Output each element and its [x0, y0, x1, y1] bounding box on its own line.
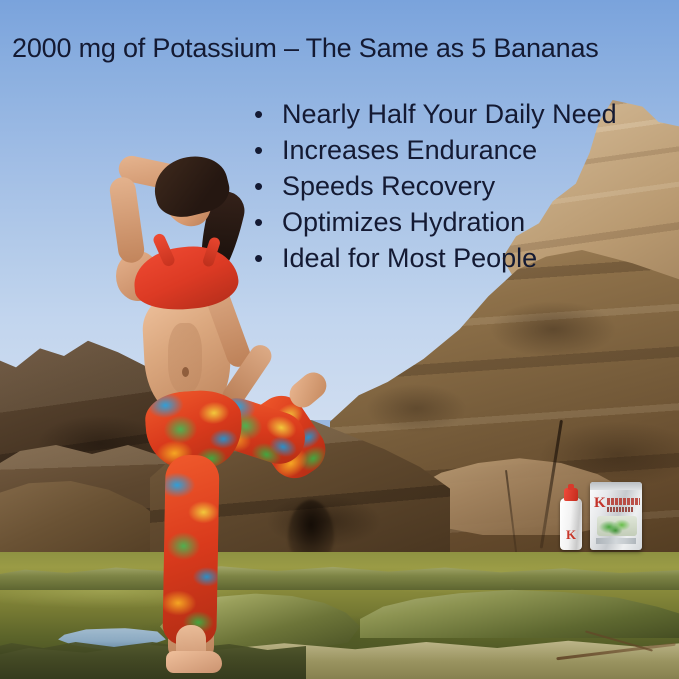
- bottle-logo-letter: K: [566, 528, 578, 544]
- abdomen-shading: [168, 323, 202, 393]
- navel: [182, 367, 189, 377]
- list-item: Speeds Recovery: [252, 168, 617, 204]
- infographic-canvas: K K 2000 mg of Potassium – The Same as 5…: [0, 0, 679, 679]
- list-item: Optimizes Hydration: [252, 204, 617, 240]
- pouch-produce-image: [597, 516, 637, 536]
- pouch-subtitle-text: [607, 507, 633, 512]
- water-bottle: K: [560, 498, 582, 550]
- headline: 2000 mg of Potassium – The Same as 5 Ban…: [12, 32, 599, 64]
- pouch-top-seal: [590, 482, 642, 490]
- product-group: K K: [560, 482, 650, 554]
- list-item: Nearly Half Your Daily Need: [252, 96, 617, 132]
- list-item: Ideal for Most People: [252, 240, 617, 276]
- supplement-pouch: K: [590, 482, 642, 550]
- pouch-brand-text: [607, 498, 640, 505]
- arm-raised-forearm: [108, 176, 146, 265]
- bottle-nozzle: [568, 484, 574, 490]
- list-item: Increases Endurance: [252, 132, 617, 168]
- foot-standing: [166, 651, 222, 673]
- leg-standing-upper: [162, 455, 219, 646]
- pouch-info-strip: [596, 538, 636, 544]
- benefit-list: Nearly Half Your Daily Need Increases En…: [252, 96, 617, 276]
- pouch-logo-letter: K: [594, 496, 608, 512]
